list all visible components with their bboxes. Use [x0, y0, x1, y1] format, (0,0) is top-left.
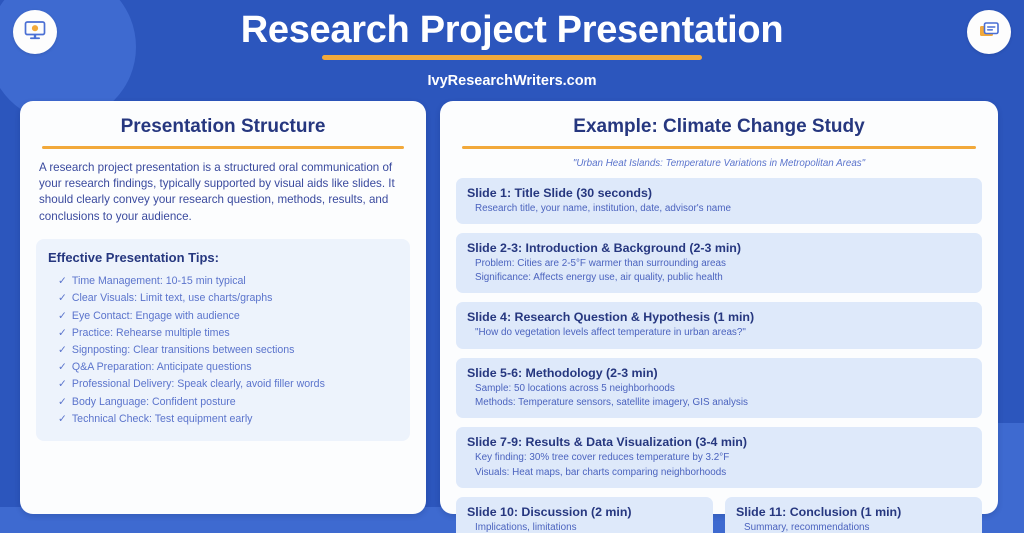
- slide-card-line: Methods: Temperature sensors, satellite …: [467, 396, 971, 410]
- slide-card-title: Slide 5-6: Methodology (2-3 min): [467, 365, 971, 382]
- left-panel-rule: [42, 146, 404, 149]
- check-icon: ✓: [58, 359, 67, 375]
- list-item: ✓ Practice: Rehearse multiple times: [48, 325, 398, 341]
- check-icon: ✓: [58, 290, 67, 306]
- check-icon: ✓: [58, 376, 67, 392]
- check-icon: ✓: [58, 308, 67, 324]
- study-subtitle: "Urban Heat Islands: Temperature Variati…: [456, 158, 982, 169]
- slide-card: Slide 10: Discussion (2 min) Implication…: [456, 497, 713, 533]
- slide-card-line: "How do vegetation levels affect tempera…: [467, 326, 971, 340]
- poster-header: Research Project Presentation IvyResearc…: [0, 0, 1024, 89]
- intro-paragraph: A research project presentation is a str…: [36, 160, 410, 226]
- slide-card-line: Research title, your name, institution, …: [467, 202, 971, 216]
- list-item: ✓ Body Language: Confident posture: [48, 394, 398, 410]
- left-panel-title: Presentation Structure: [36, 115, 410, 139]
- slide-card: Slide 5-6: Methodology (2-3 min) Sample:…: [456, 358, 982, 419]
- tip-text: Body Language: Confident posture: [72, 394, 398, 410]
- slide-card: Slide 1: Title Slide (30 seconds) Resear…: [456, 178, 982, 224]
- slide-card-title: Slide 2-3: Introduction & Background (2-…: [467, 240, 971, 257]
- slide-card-title: Slide 7-9: Results & Data Visualization …: [467, 434, 971, 451]
- list-item: ✓ Technical Check: Test equipment early: [48, 411, 398, 427]
- title-underline-rule: [322, 55, 702, 60]
- infographic-poster: Research Project Presentation IvyResearc…: [0, 0, 1024, 533]
- effective-tips-box: Effective Presentation Tips: ✓ Time Mana…: [36, 239, 410, 441]
- slide-card-line: Visuals: Heat maps, bar charts comparing…: [467, 466, 971, 480]
- slide-card-line: Sample: 50 locations across 5 neighborho…: [467, 382, 971, 396]
- tips-list: ✓ Time Management: 10-15 min typical ✓ C…: [48, 273, 398, 427]
- tips-heading: Effective Presentation Tips:: [48, 250, 398, 265]
- presentation-screen-icon: [22, 17, 48, 48]
- list-item: ✓ Q&A Preparation: Anticipate questions: [48, 359, 398, 375]
- slides-list: Slide 1: Title Slide (30 seconds) Resear…: [456, 178, 982, 533]
- page-title: Research Project Presentation: [0, 7, 1024, 53]
- slides-cards-icon: [976, 17, 1002, 48]
- panels-row: Presentation Structure A research projec…: [0, 101, 1024, 514]
- slide-card-title: Slide 11: Conclusion (1 min): [736, 504, 971, 521]
- slide-card-title: Slide 1: Title Slide (30 seconds): [467, 185, 971, 202]
- slide-card-line: Problem: Cities are 2-5°F warmer than su…: [467, 257, 971, 271]
- right-panel-title: Example: Climate Change Study: [456, 115, 982, 139]
- check-icon: ✓: [58, 342, 67, 358]
- tip-text: Professional Delivery: Speak clearly, av…: [72, 376, 398, 392]
- slide-card-line: Key finding: 30% tree cover reduces temp…: [467, 451, 971, 465]
- climate-change-example-panel: Example: Climate Change Study "Urban Hea…: [440, 101, 998, 514]
- slides-cards-icon-badge: [967, 10, 1011, 54]
- list-item: ✓ Time Management: 10-15 min typical: [48, 273, 398, 289]
- right-panel-rule: [462, 146, 976, 149]
- list-item: ✓ Professional Delivery: Speak clearly, …: [48, 376, 398, 392]
- slide-card: Slide 4: Research Question & Hypothesis …: [456, 302, 982, 348]
- slide-card-line: Implications, limitations: [467, 521, 702, 533]
- check-icon: ✓: [58, 273, 67, 289]
- slide-card-title: Slide 10: Discussion (2 min): [467, 504, 702, 521]
- slide-card-title: Slide 4: Research Question & Hypothesis …: [467, 309, 971, 326]
- site-name: IvyResearchWriters.com: [0, 73, 1024, 89]
- bottom-slides-row: Slide 10: Discussion (2 min) Implication…: [456, 497, 982, 533]
- tip-text: Signposting: Clear transitions between s…: [72, 342, 398, 358]
- tip-text: Clear Visuals: Limit text, use charts/gr…: [72, 290, 398, 306]
- tip-text: Technical Check: Test equipment early: [72, 411, 398, 427]
- check-icon: ✓: [58, 394, 67, 410]
- list-item: ✓ Clear Visuals: Limit text, use charts/…: [48, 290, 398, 306]
- slide-card-line: Summary, recommendations: [736, 521, 971, 533]
- slide-card: Slide 11: Conclusion (1 min) Summary, re…: [725, 497, 982, 533]
- tip-text: Practice: Rehearse multiple times: [72, 325, 398, 341]
- slide-card-line: Significance: Affects energy use, air qu…: [467, 271, 971, 285]
- tip-text: Eye Contact: Engage with audience: [72, 308, 398, 324]
- check-icon: ✓: [58, 325, 67, 341]
- presentation-structure-panel: Presentation Structure A research projec…: [20, 101, 426, 514]
- list-item: ✓ Eye Contact: Engage with audience: [48, 308, 398, 324]
- check-icon: ✓: [58, 411, 67, 427]
- tip-text: Time Management: 10-15 min typical: [72, 273, 398, 289]
- list-item: ✓ Signposting: Clear transitions between…: [48, 342, 398, 358]
- tip-text: Q&A Preparation: Anticipate questions: [72, 359, 398, 375]
- slide-card: Slide 2-3: Introduction & Background (2-…: [456, 233, 982, 294]
- presentation-screen-icon-badge: [13, 10, 57, 54]
- slide-card: Slide 7-9: Results & Data Visualization …: [456, 427, 982, 488]
